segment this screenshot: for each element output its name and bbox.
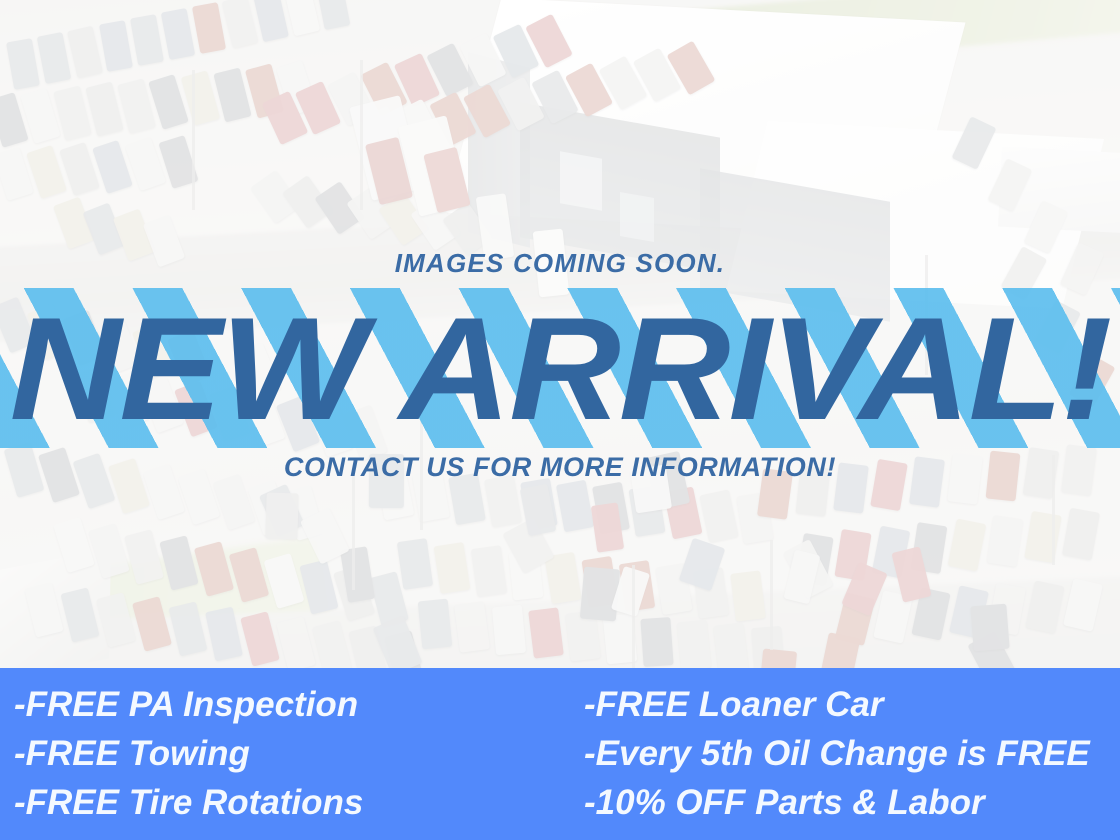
light-pole (360, 60, 363, 210)
parked-vehicle (454, 601, 490, 652)
offer-item: -Every 5th Oil Change is FREE (584, 729, 1120, 778)
light-pole (770, 540, 773, 650)
parked-vehicle (730, 571, 766, 622)
offer-item: -FREE Loaner Car (584, 680, 1120, 729)
parked-vehicle (677, 620, 712, 671)
offers-column-left: -FREE PA Inspection -FREE Towing -FREE T… (0, 680, 574, 840)
offer-item: -FREE PA Inspection (14, 680, 574, 729)
light-pole (352, 470, 355, 590)
parked-vehicle (528, 607, 564, 658)
images-coming-soon-kicker: IMAGES COMING SOON. (0, 248, 1120, 279)
light-pole (192, 70, 195, 210)
dealership-new-arrival-banner: IMAGES COMING SOON. NEW ARRIVAL! CONTACT… (0, 0, 1120, 840)
warehouse-bay-door-1 (560, 151, 602, 210)
parked-vehicle (471, 545, 507, 597)
offer-item: -FREE Towing (14, 729, 574, 778)
parked-vehicle (418, 599, 453, 650)
contact-us-subline: CONTACT US FOR MORE INFORMATION! (0, 452, 1120, 483)
warehouse-bay-door-2 (620, 192, 654, 242)
page-title: NEW ARRIVAL! (0, 296, 1120, 442)
parked-vehicle (266, 492, 299, 539)
parked-vehicle (971, 603, 1010, 650)
offer-item: -FREE Tire Rotations (14, 778, 574, 827)
offers-banner: -FREE PA Inspection -FREE Towing -FREE T… (0, 668, 1120, 840)
parked-vehicle (713, 622, 748, 673)
offers-column-right: -FREE Loaner Car -Every 5th Oil Change i… (574, 680, 1120, 840)
light-pole (632, 565, 635, 685)
parked-vehicle (640, 617, 673, 667)
parked-vehicle (492, 605, 526, 655)
parked-vehicle (580, 567, 620, 622)
offer-item: -10% OFF Parts & Labor (584, 778, 1120, 827)
